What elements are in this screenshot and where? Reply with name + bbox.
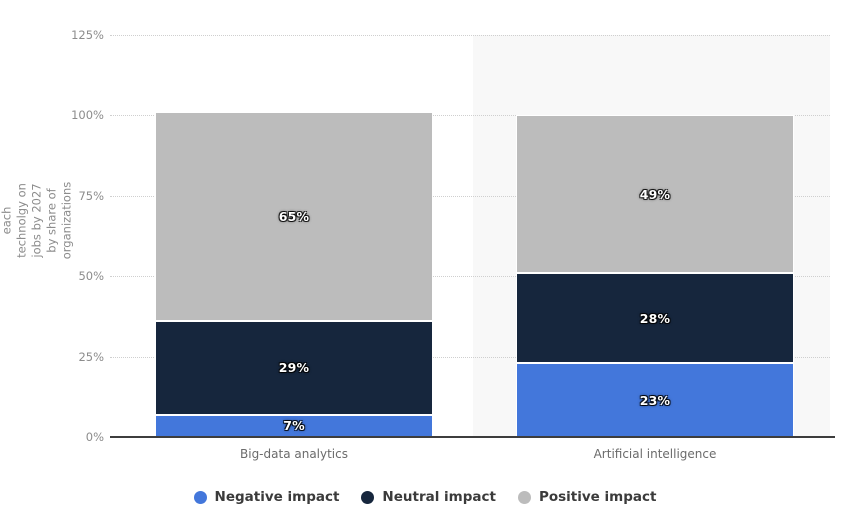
- bar-group[interactable]: 23%28%49%: [516, 115, 794, 437]
- legend-item[interactable]: Positive impact: [518, 489, 657, 505]
- stacked-bar-chart: Expected impact from each technolgy on j…: [0, 0, 850, 532]
- y-tick-label: 25%: [58, 350, 104, 364]
- gridline: [110, 35, 830, 36]
- y-tick-label: 100%: [58, 108, 104, 122]
- legend-item[interactable]: Negative impact: [194, 489, 340, 505]
- legend-swatch-icon: [194, 491, 207, 504]
- bar-group[interactable]: 7%29%65%: [155, 112, 433, 437]
- y-tick-label: 50%: [58, 269, 104, 283]
- bar-segment[interactable]: 49%: [516, 115, 794, 273]
- x-category-label: Big-data analytics: [155, 447, 433, 461]
- legend-item[interactable]: Neutral impact: [361, 489, 496, 505]
- legend-swatch-icon: [518, 491, 531, 504]
- y-tick-label: 0%: [58, 430, 104, 444]
- bar-segment[interactable]: 23%: [516, 363, 794, 437]
- plot-area: 7%29%65%23%28%49%: [110, 35, 835, 437]
- bar-segment[interactable]: 28%: [516, 273, 794, 363]
- x-axis-line: [110, 436, 835, 438]
- bar-segment[interactable]: 65%: [155, 112, 433, 321]
- bar-segment-label: 7%: [283, 418, 305, 433]
- x-category-label: Artificial intelligence: [516, 447, 794, 461]
- legend-swatch-icon: [361, 491, 374, 504]
- bar-segment[interactable]: 29%: [155, 321, 433, 414]
- y-axis-title: Expected impact from each technolgy on j…: [0, 0, 44, 440]
- legend-label: Positive impact: [539, 489, 657, 505]
- bar-segment-label: 28%: [640, 311, 671, 326]
- bar-segment-label: 65%: [279, 209, 310, 224]
- y-tick-label: 125%: [58, 28, 104, 42]
- chart-legend: Negative impactNeutral impactPositive im…: [0, 489, 850, 505]
- bar-segment-label: 23%: [640, 393, 671, 408]
- bar-segment-label: 49%: [640, 187, 671, 202]
- y-axis-tick-labels: 125%100%75%50%25%0%: [48, 35, 104, 437]
- y-tick-label: 75%: [58, 189, 104, 203]
- legend-label: Neutral impact: [382, 489, 496, 505]
- legend-label: Negative impact: [215, 489, 340, 505]
- bar-segment-label: 29%: [279, 360, 310, 375]
- bar-segment[interactable]: 7%: [155, 415, 433, 438]
